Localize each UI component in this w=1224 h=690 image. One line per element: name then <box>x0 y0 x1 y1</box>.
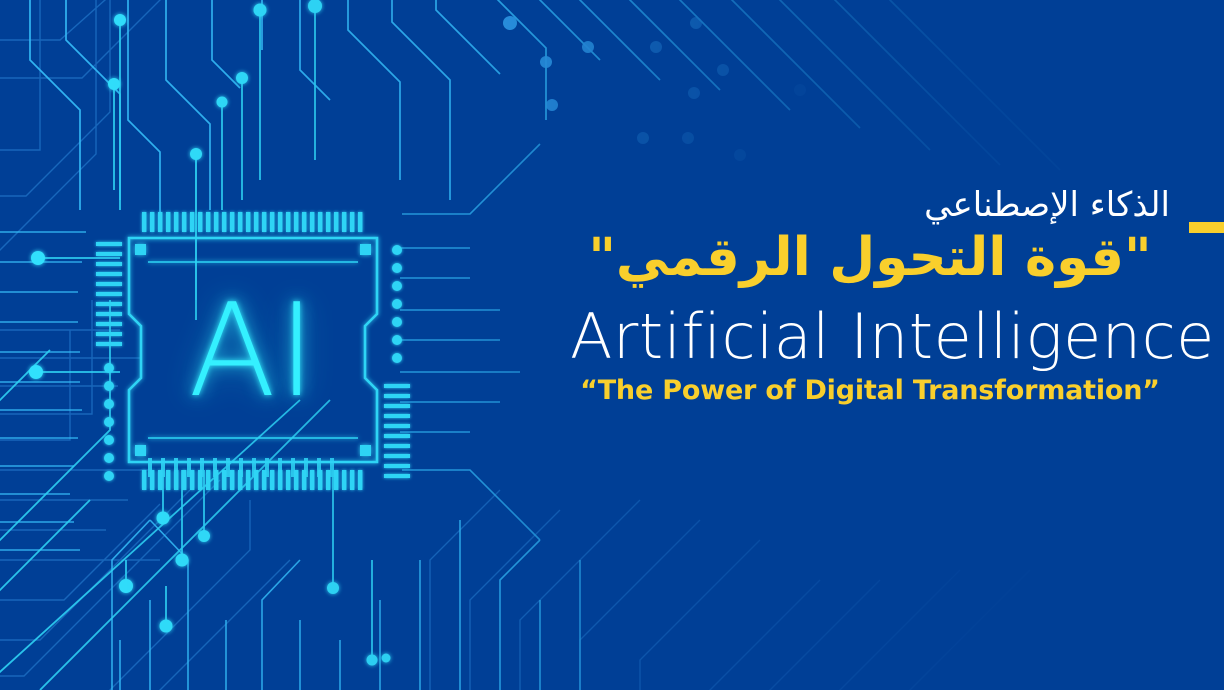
english-subtitle: “The Power of Digital Transformation” <box>570 375 1170 406</box>
english-title: Artificial Intelligence <box>570 304 1170 369</box>
chip-ai-label: AI <box>88 206 418 502</box>
headline-block: الذكاء الإصطناعي "قوة التحول الرقمي" Art… <box>570 186 1170 406</box>
ai-chip-graphic: AI <box>88 206 418 496</box>
arabic-eyebrow: الذكاء الإصطناعي <box>570 186 1170 225</box>
yellow-accent-dash <box>1189 222 1224 233</box>
arabic-headline: "قوة التحول الرقمي" <box>570 227 1170 290</box>
ai-banner: AI الذكاء الإصطناعي "قوة التحول الرقمي" … <box>0 0 1224 690</box>
